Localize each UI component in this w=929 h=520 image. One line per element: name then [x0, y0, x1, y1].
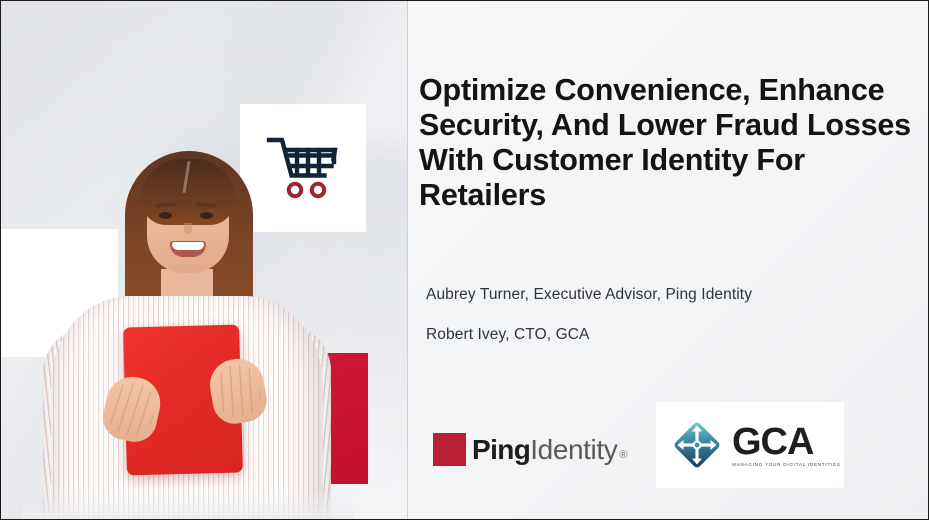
fingers-left [105, 379, 159, 439]
registered-trademark-icon: ® [619, 449, 627, 466]
photo-bottom-fade [23, 489, 353, 519]
teeth [172, 242, 204, 250]
gca-logo: GCA MANAGING YOUR DIGITAL IDENTITIES [656, 402, 844, 488]
eye-right [200, 212, 213, 219]
fingers-right [212, 362, 264, 421]
webinar-title-slide: Optimize Convenience, Enhance Security, … [0, 0, 929, 520]
right-content-panel: Optimize Convenience, Enhance Security, … [408, 1, 928, 519]
ping-logo-bold-text: Ping [472, 434, 530, 466]
speaker-list: Aubrey Turner, Executive Advisor, Ping I… [426, 286, 926, 366]
page-title: Optimize Convenience, Enhance Security, … [419, 73, 919, 213]
ping-square-icon [433, 433, 466, 466]
speaker-item: Aubrey Turner, Executive Advisor, Ping I… [426, 286, 926, 304]
ping-logo-light-text: Identity [530, 434, 617, 466]
left-visual-panel [1, 1, 407, 519]
gca-logo-text: GCA [732, 423, 841, 461]
gca-wordmark: GCA MANAGING YOUR DIGITAL IDENTITIES [732, 423, 841, 467]
speaker-item: Robert Ivey, CTO, GCA [426, 326, 926, 344]
four-way-arrow-diamond-icon [668, 416, 726, 474]
ping-identity-logo: Ping Identity ® [433, 433, 627, 466]
eye-left [159, 212, 172, 219]
gca-tagline: MANAGING YOUR DIGITAL IDENTITIES [732, 462, 841, 467]
mouth [170, 241, 206, 257]
presenter-photo [43, 141, 333, 519]
nose [184, 223, 192, 234]
